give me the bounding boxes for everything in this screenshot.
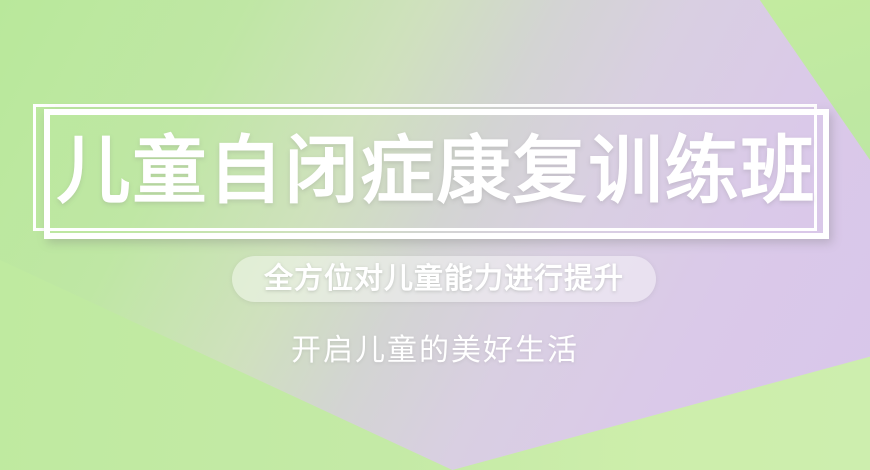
banner-title: 儿童自闭症康复训练班	[44, 110, 829, 232]
promo-banner: 儿童自闭症康复训练班 全方位对儿童能力进行提升 开启儿童的美好生活	[0, 0, 870, 470]
banner-subtitle: 全方位对儿童能力进行提升	[264, 265, 624, 294]
banner-tagline: 开启儿童的美好生活	[0, 330, 870, 372]
subtitle-pill: 全方位对儿童能力进行提升	[232, 256, 656, 302]
